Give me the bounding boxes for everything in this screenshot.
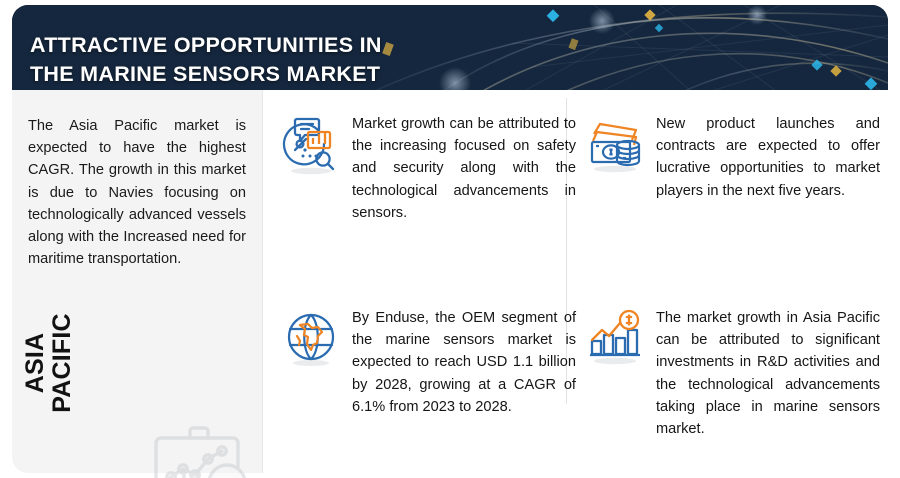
region-label: ASIA PACIFIC (22, 298, 76, 428)
growth-bar-chart-dollar-icon (584, 308, 646, 370)
page-title: ATTRACTIVE OPPORTUNITIES IN THE MARINE S… (30, 31, 382, 88)
insight-card-market-growth: Market growth can be attributed to the i… (280, 112, 576, 224)
insight-card-text: The market growth in Asia Pacific can be… (656, 306, 880, 440)
header-banner: ATTRACTIVE OPPORTUNITIES IN THE MARINE S… (12, 5, 888, 90)
content-area: The Asia Pacific market is expected to h… (12, 90, 888, 473)
percent-chart-analysis-icon (280, 114, 342, 176)
infographic-canvas: ATTRACTIVE OPPORTUNITIES IN THE MARINE S… (0, 0, 900, 478)
insight-cards: Market growth can be attributed to the i… (262, 90, 888, 473)
region-summary-text: The Asia Pacific market is expected to h… (28, 115, 246, 270)
insight-card-product-launches: New product launches and contracts are e… (584, 112, 880, 202)
left-region-panel: The Asia Pacific market is expected to h… (12, 90, 262, 473)
insight-card-oem-segment: By Enduse, the OEM segment of the marine… (280, 306, 576, 418)
globe-icon (280, 308, 342, 370)
insight-card-asia-rnd: The market growth in Asia Pacific can be… (584, 306, 880, 440)
insight-card-text: By Enduse, the OEM segment of the marine… (352, 306, 576, 418)
presentation-chart-magnifier-icon (140, 420, 264, 478)
insight-card-text: Market growth can be attributed to the i… (352, 112, 576, 224)
money-cash-coins-icon (584, 114, 646, 176)
insight-card-text: New product launches and contracts are e… (656, 112, 880, 202)
